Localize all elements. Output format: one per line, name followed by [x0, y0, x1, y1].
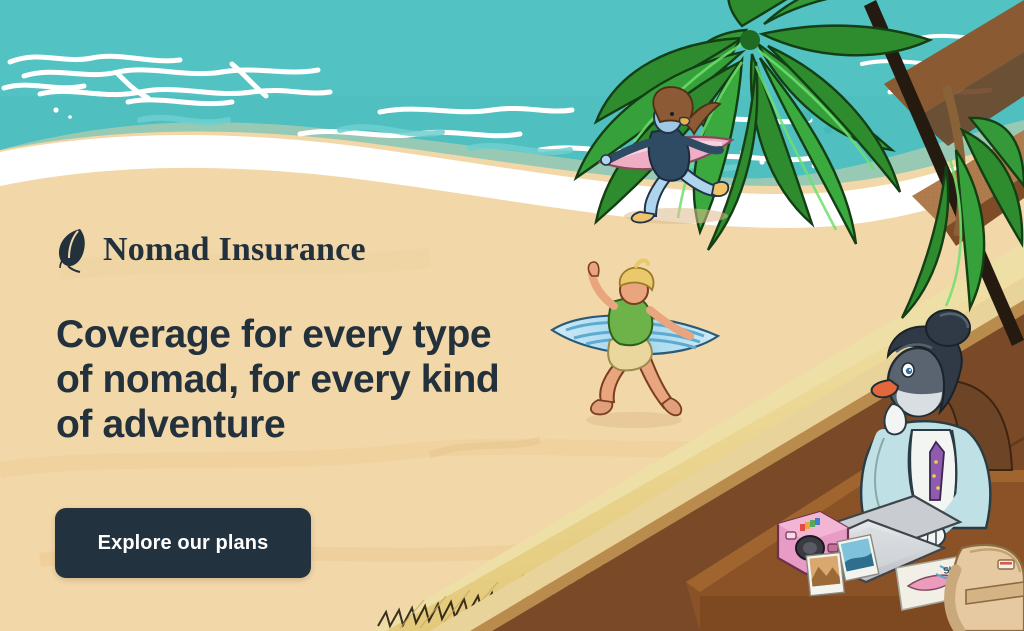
- feather-quill-icon: [55, 226, 89, 274]
- nomad-insurance-banner: SURF: [0, 0, 1024, 631]
- backpack: [950, 545, 1024, 631]
- brand-name: Nomad Insurance: [103, 231, 366, 269]
- brand-lockup: Nomad Insurance: [55, 226, 366, 274]
- explore-our-plans-button[interactable]: Explore our plans: [55, 508, 311, 578]
